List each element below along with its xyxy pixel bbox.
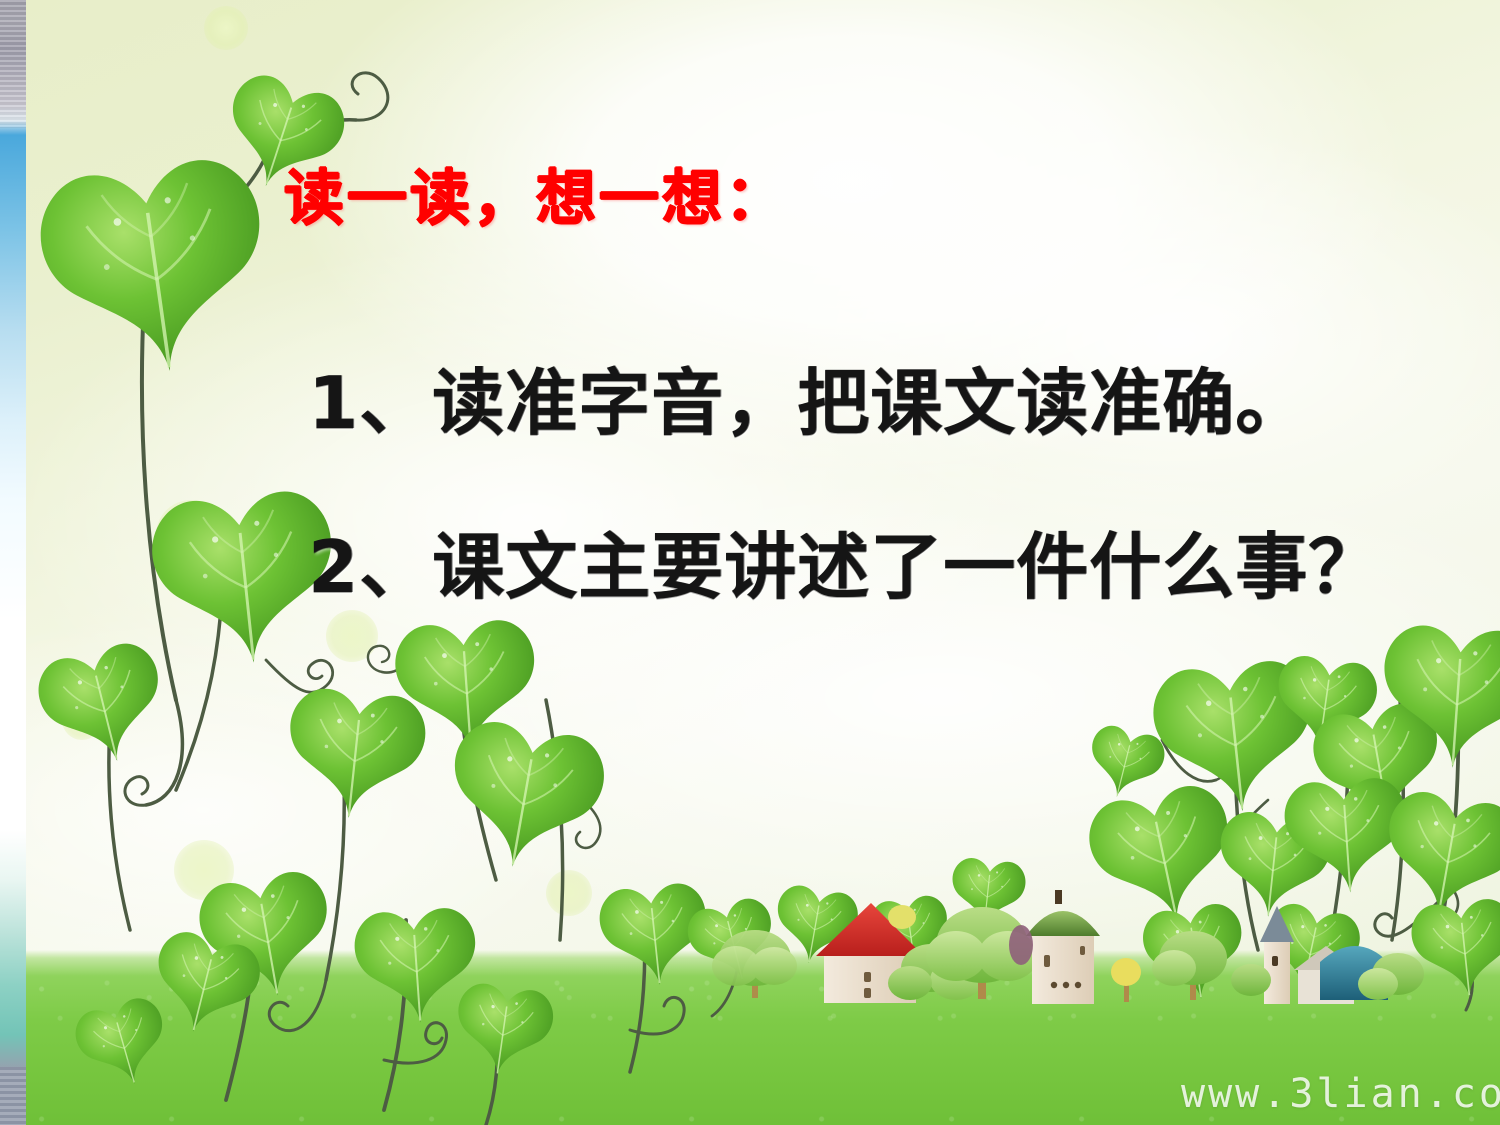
slide-background: 读一读，想一想： 1、读准字音，把课文读准确。 2、课文主要讲述了一件什么事？ … bbox=[26, 0, 1500, 1125]
filmstrip-top-stripes bbox=[0, 0, 26, 128]
instruction-line-1: 1、读准字音，把课文读准确。 bbox=[308, 344, 1308, 449]
filmstrip-bottom-rail bbox=[0, 1067, 26, 1125]
slide-heading: 读一读，想一想： bbox=[284, 150, 788, 237]
site-watermark: www.3lian.co bbox=[1181, 1071, 1500, 1117]
left-filmstrip bbox=[0, 0, 26, 1125]
slide-canvas: 读一读，想一想： 1、读准字音，把课文读准确。 2、课文主要讲述了一件什么事？ … bbox=[0, 0, 1500, 1125]
instruction-line-2: 2、课文主要讲述了一件什么事？ bbox=[308, 508, 1381, 613]
